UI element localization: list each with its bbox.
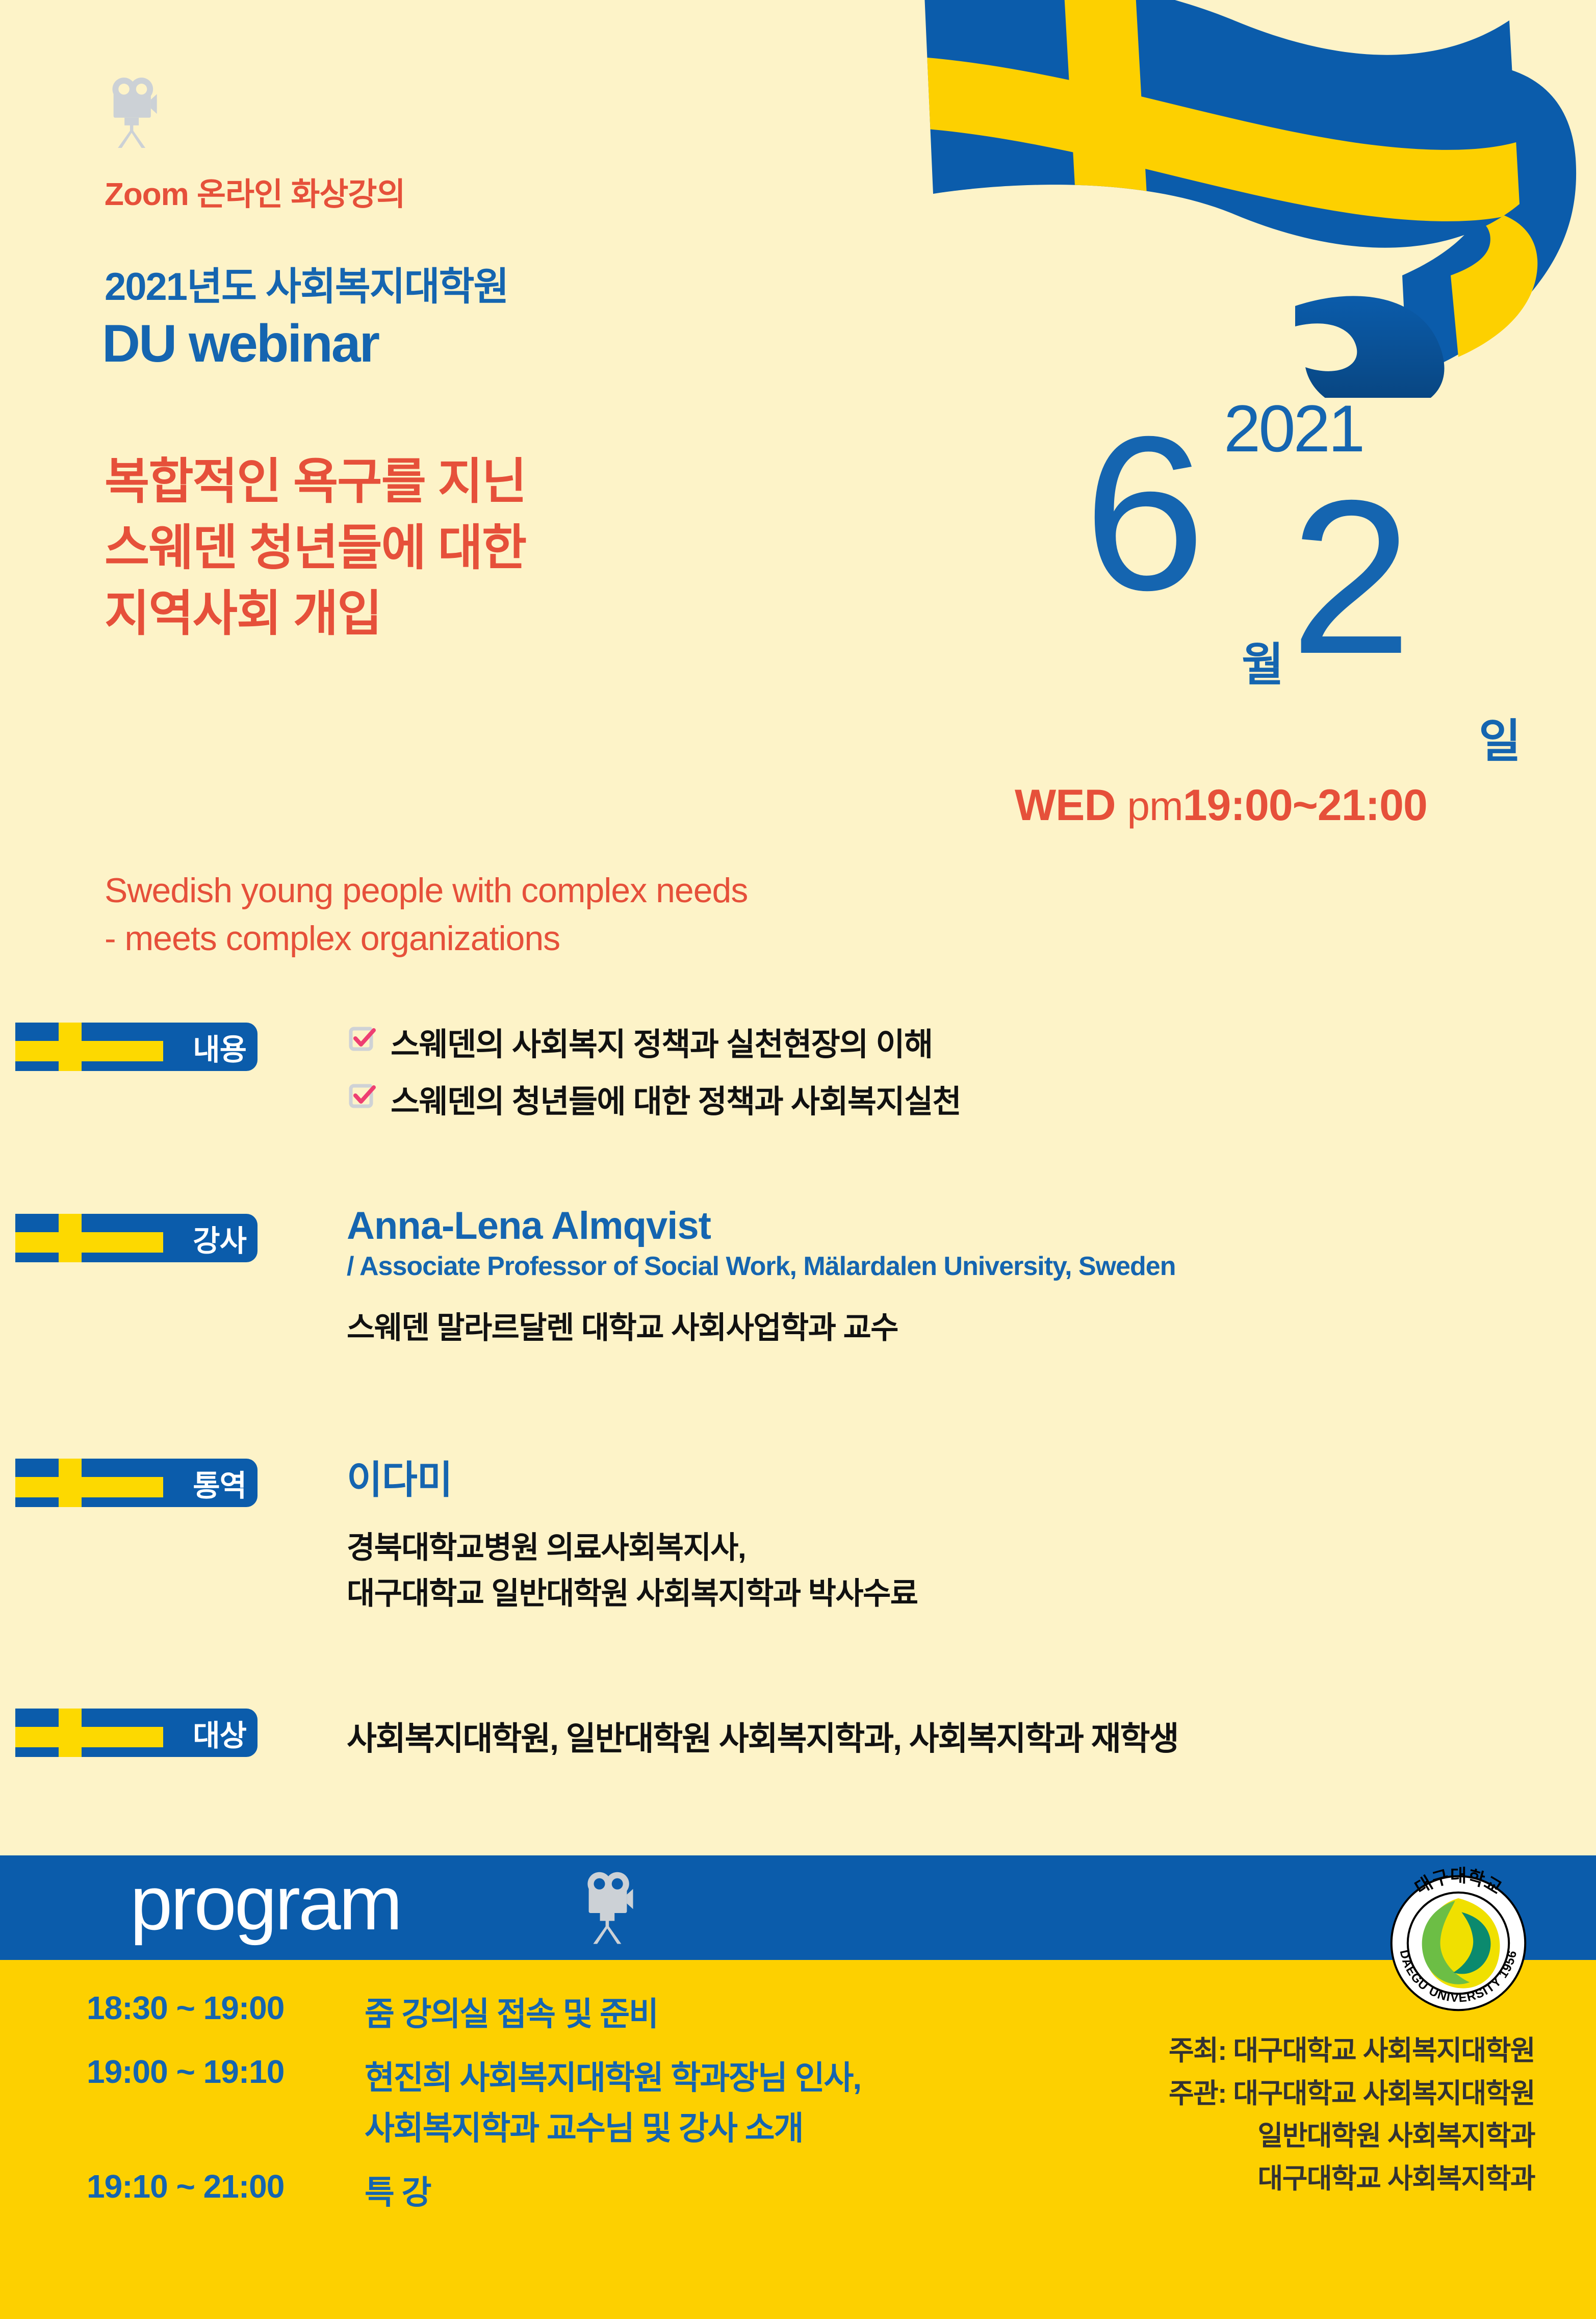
badge-target: 대상 — [15, 1709, 258, 1757]
swedish-flag-mini-icon — [15, 1709, 163, 1757]
swedish-flag-graphic — [846, 0, 1596, 398]
list-item: 스웨덴의 청년들에 대한 정책과 사회복지실천 — [347, 1076, 961, 1122]
badge-target-label: 대상 — [193, 1712, 246, 1754]
schedule-time: 18:30 ~ 19:00 — [87, 1989, 365, 2027]
badge-content: 내용 — [15, 1023, 258, 1071]
organizer-line-3: 일반대학원 사회복지학과 — [1169, 2115, 1535, 2158]
event-date-block: 2021 6 월 2 일 WED pm19:00~21:00 — [1005, 383, 1514, 831]
page-title: 복합적인 욕구를 지닌 스웨덴 청년들에 대한 지역사회 개입 — [105, 449, 526, 647]
english-subtitle-line-2: - meets complex organizations — [105, 915, 748, 963]
event-time-line: WED pm19:00~21:00 — [1015, 780, 1427, 831]
schedule-row: 19:00 ~ 19:10 현진희 사회복지대학원 학과장님 인사, 사회복지학… — [87, 2053, 861, 2154]
interpreter-name: 이다미 — [347, 1448, 918, 1505]
badge-interpreter: 통역 — [15, 1459, 258, 1507]
english-subtitle: Swedish young people with complex needs … — [105, 867, 748, 963]
interpreter-details: 이다미 경북대학교병원 의료사회복지사, 대구대학교 일반대학원 사회복지학과 … — [347, 1448, 918, 1617]
swedish-flag-mini-icon — [15, 1459, 163, 1507]
badge-lecturer: 강사 — [15, 1214, 258, 1262]
target-details: 사회복지대학원, 일반대학원 사회복지학과, 사회복지학과 재학생 — [347, 1713, 1178, 1760]
badge-lecturer-label: 강사 — [193, 1217, 246, 1260]
movie-camera-icon — [110, 77, 166, 148]
zoom-online-label: Zoom 온라인 화상강의 — [105, 168, 405, 214]
title-line-2: 스웨덴 청년들에 대한 — [105, 515, 526, 581]
content-item-text: 스웨덴의 사회복지 정책과 실천현장의 이해 — [391, 1018, 933, 1064]
content-item-text: 스웨덴의 청년들에 대한 정책과 사회복지실천 — [391, 1076, 961, 1122]
program-heading: program — [130, 1859, 401, 1947]
date-time-range: 19:00~21:00 — [1183, 781, 1427, 830]
target-audience-text: 사회복지대학원, 일반대학원 사회복지학과, 사회복지학과 재학생 — [347, 1713, 1178, 1760]
date-month-unit: 월 — [1242, 627, 1284, 694]
list-item: 스웨덴의 사회복지 정책과 실천현장의 이해 — [347, 1018, 961, 1064]
title-line-1: 복합적인 욕구를 지닌 — [105, 449, 526, 515]
interpreter-affiliation-line-1: 경북대학교병원 의료사회복지사, — [347, 1525, 918, 1571]
lecturer-affiliation-en: / Associate Professor of Social Work, Mä… — [347, 1251, 1176, 1282]
interpreter-affiliation-line-2: 대구대학교 일반대학원 사회복지학과 박사수료 — [347, 1571, 918, 1617]
organizer-line-2: 주관: 대구대학교 사회복지대학원 — [1169, 2073, 1535, 2116]
date-weekday: WED — [1015, 781, 1116, 830]
swedish-flag-mini-icon — [15, 1023, 163, 1071]
schedule-description: 특 강 — [365, 2168, 431, 2218]
zoom-label-text: Zoom 온라인 화상강의 — [105, 168, 405, 214]
date-pm-label: pm — [1127, 783, 1183, 829]
schedule-time: 19:00 ~ 19:10 — [87, 2053, 365, 2091]
du-webinar-brand: DU webinar — [102, 314, 378, 374]
organizer-line-1: 주최: 대구대학교 사회복지대학원 — [1169, 2030, 1535, 2073]
schedule-description: 현진희 사회복지대학원 학과장님 인사, 사회복지학과 교수님 및 강사 소개 — [365, 2053, 861, 2154]
graduate-school-line: 2021년도 사회복지대학원 — [105, 255, 508, 311]
badge-interpreter-label: 통역 — [193, 1462, 246, 1505]
movie-camera-icon — [585, 1869, 641, 1946]
schedule-row: 19:10 ~ 21:00 특 강 — [87, 2168, 861, 2218]
checkbox-checked-icon — [347, 1081, 377, 1111]
organizer-info: 주최: 대구대학교 사회복지대학원 주관: 대구대학교 사회복지대학원 일반대학… — [1169, 2030, 1535, 2201]
title-line-3: 지역사회 개입 — [105, 581, 526, 647]
program-schedule: 18:30 ~ 19:00 줌 강의실 접속 및 준비 19:00 ~ 19:1… — [87, 1989, 861, 2231]
lecturer-details: Anna-Lena Almqvist / Associate Professor… — [347, 1204, 1176, 1347]
english-subtitle-line-1: Swedish young people with complex needs — [105, 867, 748, 915]
lecturer-affiliation-ko: 스웨덴 말라르달렌 대학교 사회사업학과 교수 — [347, 1303, 1176, 1347]
date-month-number: 6 — [1084, 428, 1205, 599]
schedule-description: 줌 강의실 접속 및 준비 — [365, 1989, 658, 2040]
organizer-line-4: 대구대학교 사회복지학과 — [1169, 2158, 1535, 2201]
content-checklist: 스웨덴의 사회복지 정책과 실천현장의 이해 스웨덴의 청년들에 대한 정책과 … — [347, 1018, 961, 1133]
daegu-university-seal-icon: 대구대학교 DAEGU UNIVERSITY 1956 — [1377, 1859, 1540, 2027]
lecturer-name: Anna-Lena Almqvist — [347, 1204, 1176, 1248]
date-day-number: 2 — [1290, 492, 1412, 663]
schedule-row: 18:30 ~ 19:00 줌 강의실 접속 및 준비 — [87, 1989, 861, 2040]
date-day-unit: 일 — [1479, 704, 1521, 770]
checkbox-checked-icon — [347, 1024, 377, 1054]
schedule-time: 19:10 ~ 21:00 — [87, 2168, 365, 2205]
swedish-flag-mini-icon — [15, 1214, 163, 1262]
badge-content-label: 내용 — [193, 1026, 246, 1068]
